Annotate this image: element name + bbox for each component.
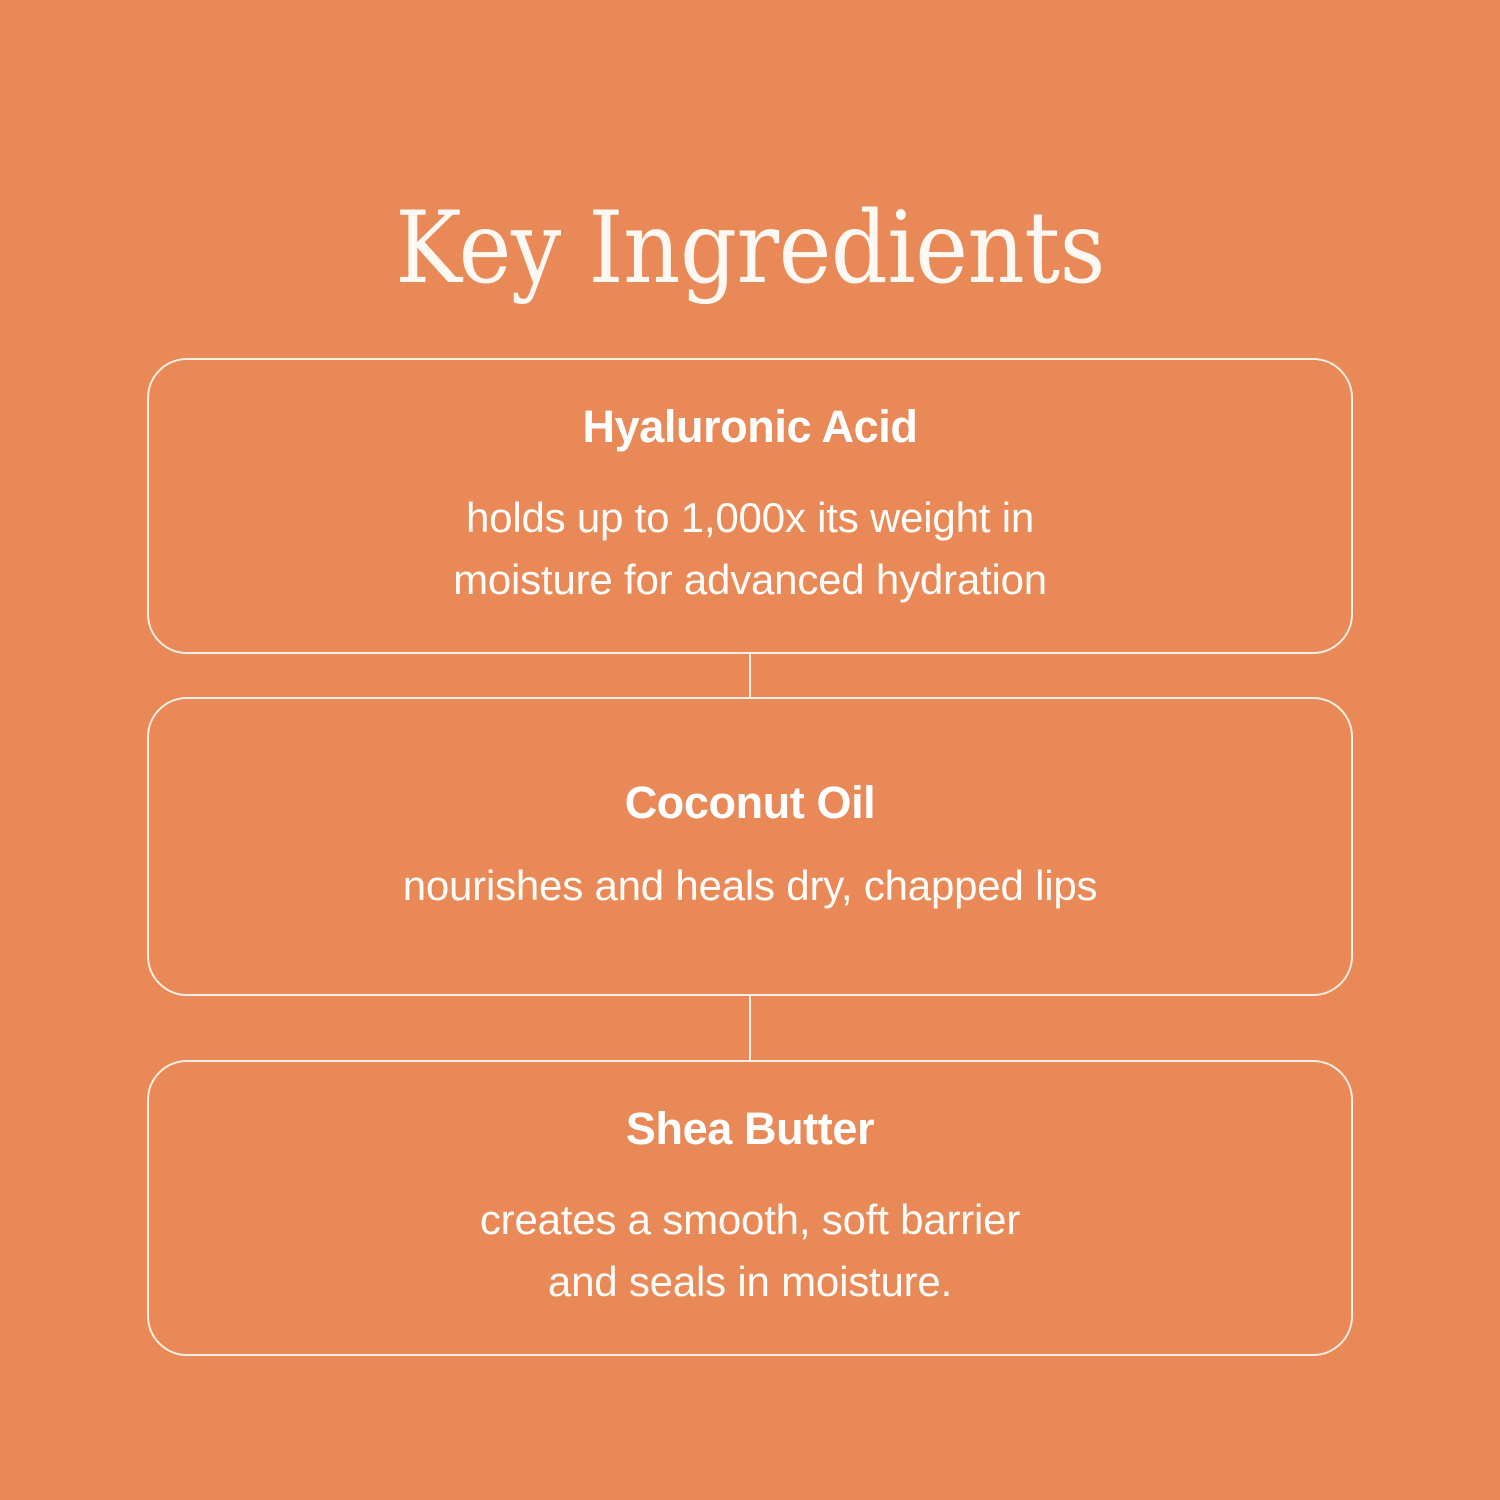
ingredient-card-coconut-oil: Coconut Oil nourishes and heals dry, cha…	[147, 697, 1353, 996]
ingredient-description-line: creates a smooth, soft barrier	[480, 1189, 1020, 1251]
ingredient-description-line: moisture for advanced hydration	[453, 549, 1047, 611]
ingredient-name: Hyaluronic Acid	[583, 401, 918, 453]
key-ingredients-infographic: Key Ingredients Hyaluronic Acid holds up…	[0, 0, 1500, 1500]
page-title: Key Ingredients	[0, 194, 1500, 304]
ingredient-description-line: and seals in moisture.	[548, 1251, 952, 1313]
ingredient-description-line: nourishes and heals dry, chapped lips	[403, 855, 1098, 917]
ingredient-card-hyaluronic-acid: Hyaluronic Acid holds up to 1,000x its w…	[147, 358, 1353, 654]
ingredient-description-line: holds up to 1,000x its weight in	[466, 487, 1034, 549]
connector-line-icon	[749, 996, 751, 1060]
ingredient-name: Shea Butter	[626, 1103, 874, 1155]
ingredient-name: Coconut Oil	[625, 777, 876, 829]
ingredient-card-shea-butter: Shea Butter creates a smooth, soft barri…	[147, 1060, 1353, 1356]
connector-line-icon	[749, 654, 751, 697]
ingredient-card-stack: Hyaluronic Acid holds up to 1,000x its w…	[147, 358, 1353, 1356]
